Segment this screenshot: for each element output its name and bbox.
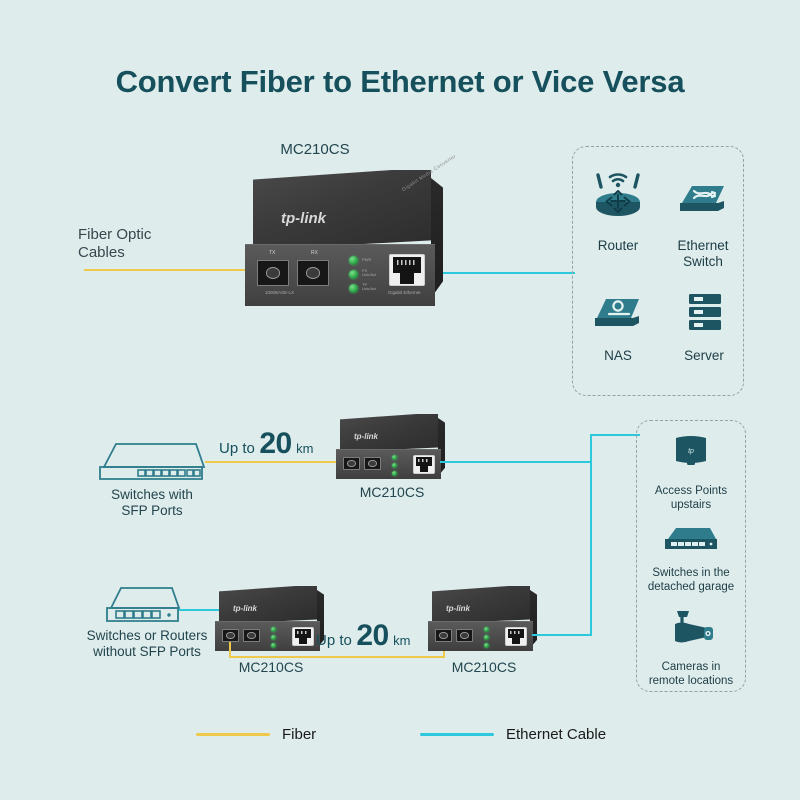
tplink-logo-row3-left: tp-link <box>233 604 257 613</box>
target-router: Router <box>576 170 660 254</box>
distance-row3-value: 20 <box>356 619 388 652</box>
camera-icon <box>663 608 719 648</box>
server-icon <box>673 288 735 336</box>
target-router-label: Router <box>576 238 660 254</box>
fiber-line-row3 <box>229 656 445 658</box>
remote-switches: Switches in the detached garage <box>640 524 742 594</box>
rj45-label-row1: Gigabit Ethernet <box>388 290 421 295</box>
led-label-fx: FXLink/Act <box>362 269 376 277</box>
nas-icon <box>587 290 649 336</box>
distance-row2-prefix: Up to <box>219 440 255 457</box>
remote-switches-label: Switches in the detached garage <box>640 566 742 594</box>
row3-source-label: Switches or Routers without SFP Ports <box>62 628 232 661</box>
fiber-port-label: 1000BASE-LX <box>265 290 294 295</box>
target-ethernet-switch: Ethernet Switch <box>660 170 746 270</box>
fiber-optic-cables-label: Fiber Optic Cables <box>78 226 208 263</box>
distance-row3-unit: km <box>393 633 410 648</box>
led-pwr-row2 <box>392 455 397 460</box>
rj45-tab-row3-left <box>299 637 308 644</box>
led-pwr <box>349 256 358 265</box>
distance-row3-prefix: Up to <box>316 632 352 649</box>
sfp-port-rx-row3-left <box>243 629 260 642</box>
sfp-port-rx-row3-right <box>456 629 473 642</box>
led-fx-row3-right <box>484 635 489 640</box>
target-ethernet-switch-label: Ethernet Switch <box>660 238 746 270</box>
sfp-port-tx <box>257 260 289 286</box>
led-tp-row2 <box>392 471 397 476</box>
legend-item-fiber: Fiber <box>196 726 316 743</box>
port-label-tx: TX <box>269 250 275 256</box>
tplink-logo: tp-link <box>281 210 326 227</box>
media-converter-row1: tp-link Gigabit Media Converter TX RX 10… <box>245 170 445 320</box>
led-tp-row3-left <box>271 643 276 648</box>
remote-cameras-label: Cameras in remote locations <box>640 660 742 688</box>
remote-access-points: tp Access Points upstairs <box>640 432 742 512</box>
led-label-tp: TPLink/Act <box>362 283 376 291</box>
sfp-port-rx-row2 <box>364 457 381 470</box>
row1-device-label: MC210CS <box>255 141 375 159</box>
legend-swatch-fiber <box>196 733 270 736</box>
target-nas: NAS <box>576 290 660 364</box>
remote-cameras: Cameras in remote locations <box>640 608 742 688</box>
media-converter-row3-left: tp-link <box>215 586 325 656</box>
rj45-port-row2 <box>413 455 435 474</box>
distance-row2-value: 20 <box>259 427 291 460</box>
switch-with-sfp-icon <box>92 437 210 485</box>
port-label-rx: RX <box>311 250 318 256</box>
ethernet-line-row2 <box>440 461 592 463</box>
row2-device-label: MC210CS <box>336 484 448 501</box>
legend-label-ethernet: Ethernet Cable <box>506 726 606 743</box>
distance-row2-unit: km <box>296 441 313 456</box>
row3-device-label-left: MC210CS <box>215 659 327 676</box>
router-icon <box>587 170 649 226</box>
media-converter-row2: tp-link <box>336 414 446 484</box>
rj45-port-row3-right <box>505 627 527 646</box>
fiber-line-row1 <box>84 269 261 271</box>
ethernet-trunk-vertical <box>590 434 592 636</box>
led-tp-row3-right <box>484 643 489 648</box>
svg-text:tp: tp <box>688 448 694 455</box>
tplink-logo-row3-right: tp-link <box>446 604 470 613</box>
ethernet-line-row3-b <box>532 634 592 636</box>
led-fx-row2 <box>392 463 397 468</box>
rj45-port-row3-left <box>292 627 314 646</box>
remote-access-points-label: Access Points upstairs <box>640 484 742 512</box>
sfp-port-tx-row3-left <box>222 629 239 642</box>
legend-swatch-ethernet <box>420 733 494 736</box>
tplink-logo-row2: tp-link <box>354 432 378 441</box>
switch-icon <box>660 524 722 554</box>
rj45-tab-row3-right <box>512 637 521 644</box>
legend-label-fiber: Fiber <box>282 726 316 743</box>
target-server: Server <box>662 288 746 364</box>
led-fx-row3-left <box>271 635 276 640</box>
row3-device-label-right: MC210CS <box>428 659 540 676</box>
fiber-line-row2 <box>205 461 353 463</box>
ethernet-trunk-top <box>590 434 640 436</box>
sfp-port-rx <box>297 260 329 286</box>
device-top-face <box>253 170 431 250</box>
rj45-tab-row2 <box>420 465 429 472</box>
rj45-port-row1 <box>389 254 425 286</box>
target-nas-label: NAS <box>576 348 660 364</box>
access-point-icon: tp <box>668 432 714 472</box>
distance-row3: Up to 20 km <box>316 619 410 653</box>
led-fx-link-act <box>349 270 358 279</box>
legend-item-ethernet: Ethernet Cable <box>420 726 606 743</box>
page-title: Convert Fiber to Ethernet or Vice Versa <box>0 64 800 100</box>
diagram-canvas: Convert Fiber to Ethernet or Vice Versa … <box>0 0 800 800</box>
media-converter-row3-right: tp-link <box>428 586 538 656</box>
target-server-label: Server <box>662 348 746 364</box>
led-tp-link-act <box>349 284 358 293</box>
switch-without-sfp-icon <box>100 582 188 626</box>
distance-row2: Up to 20 km <box>219 427 313 461</box>
led-pwr-row3-left <box>271 627 276 632</box>
led-label-pwr: PWR <box>362 257 371 262</box>
ethernet-switch-icon <box>672 170 734 226</box>
rj45-tab <box>400 272 415 284</box>
sfp-port-tx-row2 <box>343 457 360 470</box>
row2-source-label: Switches with SFP Ports <box>86 487 218 520</box>
ethernet-line-row1 <box>440 272 575 274</box>
sfp-port-tx-row3-right <box>435 629 452 642</box>
led-pwr-row3-right <box>484 627 489 632</box>
